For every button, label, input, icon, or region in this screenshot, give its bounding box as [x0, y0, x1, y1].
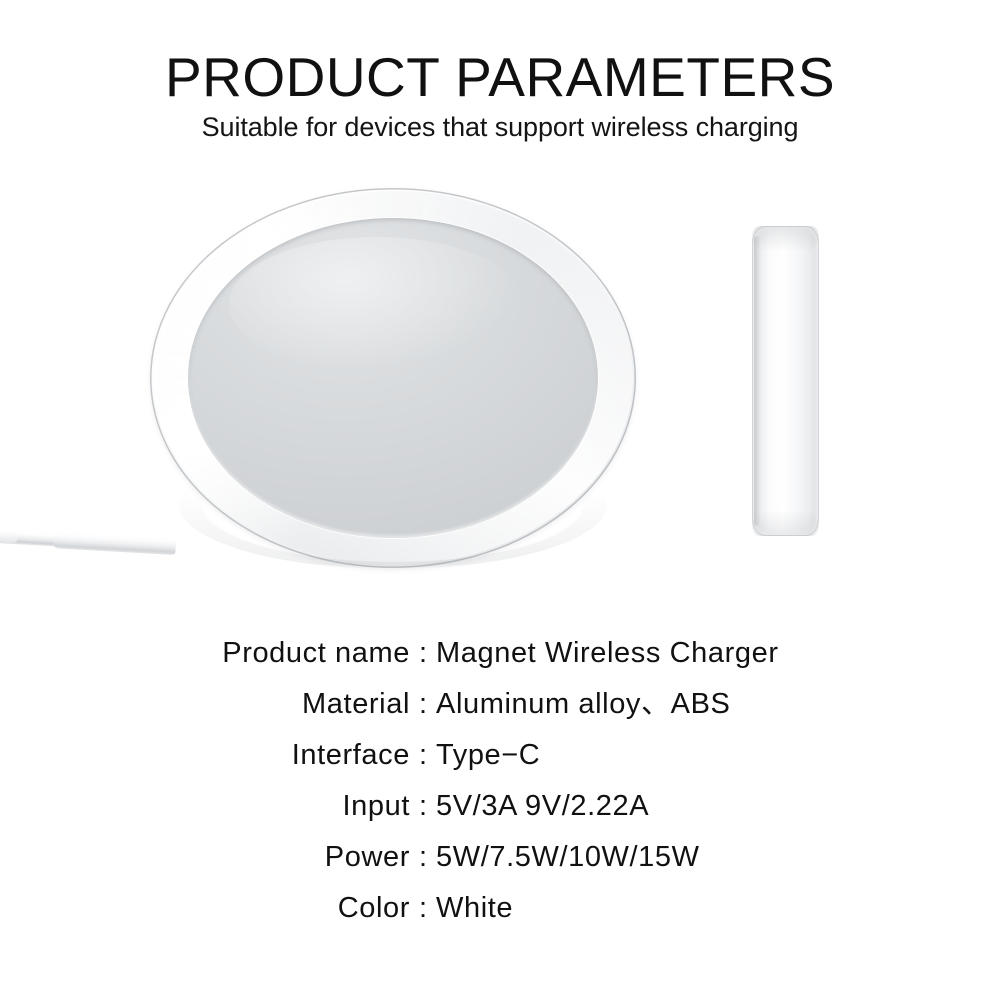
- spec-label-input: Input: [0, 781, 410, 832]
- charger-pad-gloss-highlight: [229, 237, 524, 371]
- cable-tip: [0, 531, 18, 543]
- spec-separator: :: [410, 628, 436, 679]
- side-profile-left-edge: [754, 236, 761, 526]
- side-profile-bottom-shading: [752, 510, 819, 536]
- spec-value-product-name: Magnet Wireless Charger: [436, 628, 1000, 679]
- spec-label-interface: Interface: [0, 730, 410, 781]
- spec-separator: :: [410, 883, 436, 934]
- spec-value-power: 5W/7.5W/10W/15W: [436, 832, 1000, 883]
- spec-label-power: Power: [0, 832, 410, 883]
- charger-side-profile-view: [752, 226, 819, 536]
- product-parameters-page: PRODUCT PARAMETERS Suitable for devices …: [0, 0, 1000, 1000]
- spec-label-product-name: Product name: [0, 628, 410, 679]
- spec-separator: :: [410, 730, 436, 781]
- spec-value-interface: Type−C: [436, 730, 1000, 781]
- header: PRODUCT PARAMETERS Suitable for devices …: [0, 48, 1000, 142]
- spec-value-input: 5V/3A 9V/2.22A: [436, 781, 1000, 832]
- spec-value-color: White: [436, 883, 1000, 934]
- table-row: Interface : Type−C: [0, 730, 1000, 781]
- spec-label-material: Material: [0, 679, 410, 730]
- page-subtitle: Suitable for devices that support wirele…: [0, 112, 1000, 142]
- charger-pad-top-view: [150, 188, 636, 568]
- spec-separator: :: [410, 679, 436, 730]
- spec-separator: :: [410, 832, 436, 883]
- table-row: Color : White: [0, 883, 1000, 934]
- spec-label-color: Color: [0, 883, 410, 934]
- spec-separator: :: [410, 781, 436, 832]
- table-row: Product name : Magnet Wireless Charger: [0, 628, 1000, 679]
- specification-table: Product name : Magnet Wireless Charger M…: [0, 628, 1000, 934]
- table-row: Material : Aluminum alloy、ABS: [0, 679, 1000, 730]
- table-row: Power : 5W/7.5W/10W/15W: [0, 832, 1000, 883]
- product-image-area: [0, 160, 1000, 600]
- table-row: Input : 5V/3A 9V/2.22A: [0, 781, 1000, 832]
- spec-value-material: Aluminum alloy、ABS: [436, 679, 1000, 730]
- charger-pad-bottom-edge: [179, 440, 607, 569]
- side-profile-top-shading: [752, 226, 819, 252]
- page-title: PRODUCT PARAMETERS: [0, 48, 1000, 106]
